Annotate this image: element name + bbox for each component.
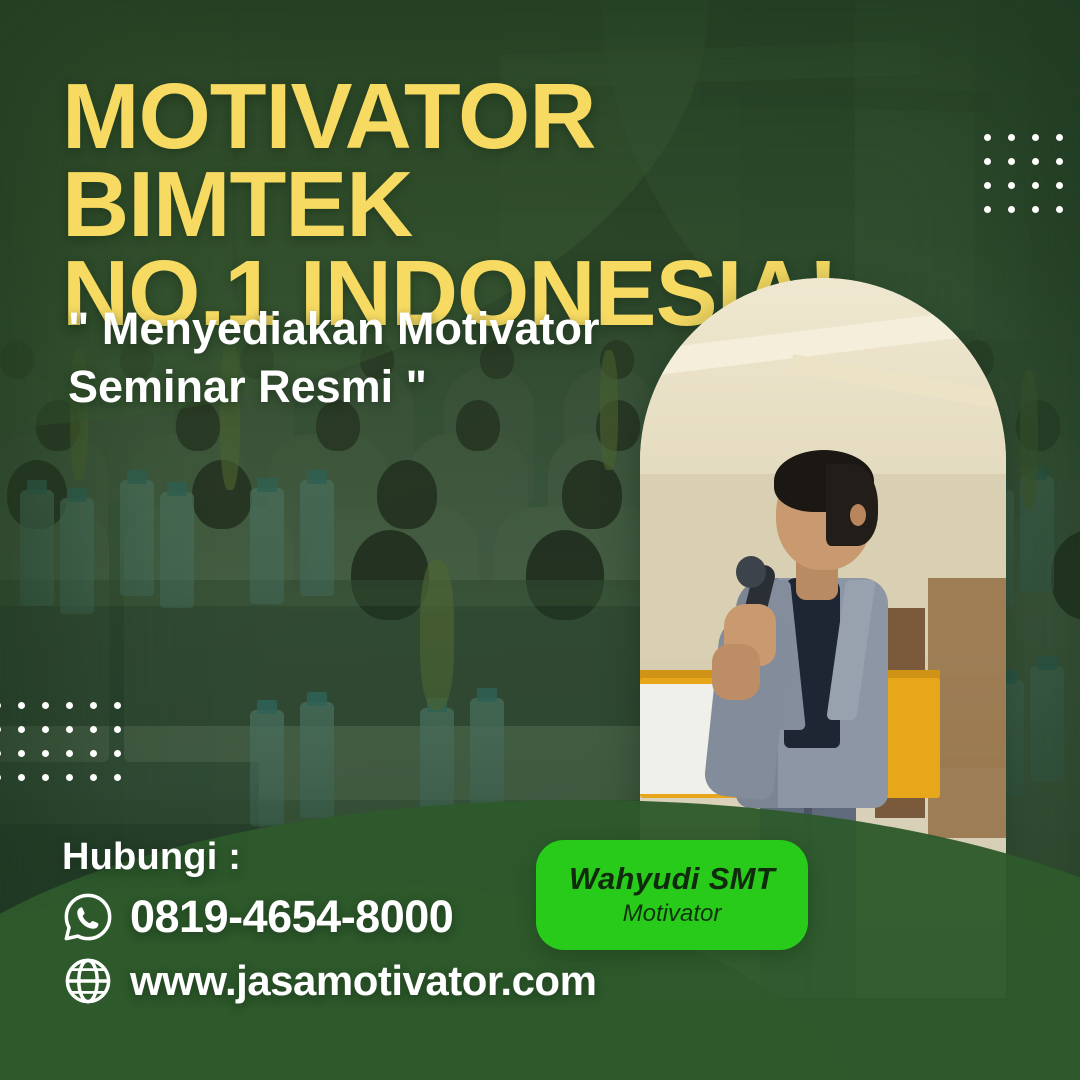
decor-dot [1032,206,1039,213]
decor-dot [18,726,25,733]
decor-dot [1056,158,1063,165]
dot-grid-left [0,702,144,798]
decor-dot [114,726,121,733]
decor-dot [1008,134,1015,141]
decor-dot [18,774,25,781]
whatsapp-icon [62,891,114,943]
decor-dot [1032,182,1039,189]
decor-dot [42,726,49,733]
contact-phone: 0819-4654-8000 [130,891,453,943]
decor-dot [90,774,97,781]
decor-dot [0,726,1,733]
decor-dot [0,750,1,757]
decor-dot [0,702,1,709]
decor-dot [1008,182,1015,189]
subtitle-tagline: " Menyediakan Motivator Seminar Resmi " [68,300,668,415]
decor-dot [42,702,49,709]
decor-dot [18,750,25,757]
decor-dot [1032,158,1039,165]
decor-dot [1008,206,1015,213]
decor-dot [90,702,97,709]
contact-row-website[interactable]: www.jasamotivator.com [62,955,582,1007]
contact-block: Hubungi : 0819-4654-8000 www.j [62,836,582,1007]
decor-dot [114,774,121,781]
speaker-name: Wahyudi SMT [569,862,775,896]
dot-grid-top-right [984,134,1080,230]
decor-dot [66,726,73,733]
decor-dot [1056,206,1063,213]
contact-row-whatsapp[interactable]: 0819-4654-8000 [62,891,582,943]
contact-label: Hubungi : [62,836,582,879]
decor-dot [18,702,25,709]
globe-icon [62,955,114,1007]
decor-dot [90,750,97,757]
decor-dot [984,182,991,189]
speaker-role: Motivator [623,900,722,928]
poster-root: MOTIVATOR BIMTEK NO.1 INDONESIA! " Menye… [0,0,1080,1080]
contact-website: www.jasamotivator.com [130,957,596,1005]
decor-dot [1032,134,1039,141]
decor-dot [984,134,991,141]
decor-dot [42,774,49,781]
decor-dot [66,750,73,757]
decor-dot [42,750,49,757]
decor-dot [984,206,991,213]
decor-dot [1008,158,1015,165]
decor-dot [1056,134,1063,141]
decor-dot [1056,182,1063,189]
decor-dot [0,774,1,781]
decor-dot [90,726,97,733]
decor-dot [114,702,121,709]
decor-dot [114,750,121,757]
decor-dot [984,158,991,165]
decor-dot [66,774,73,781]
decor-dot [66,702,73,709]
